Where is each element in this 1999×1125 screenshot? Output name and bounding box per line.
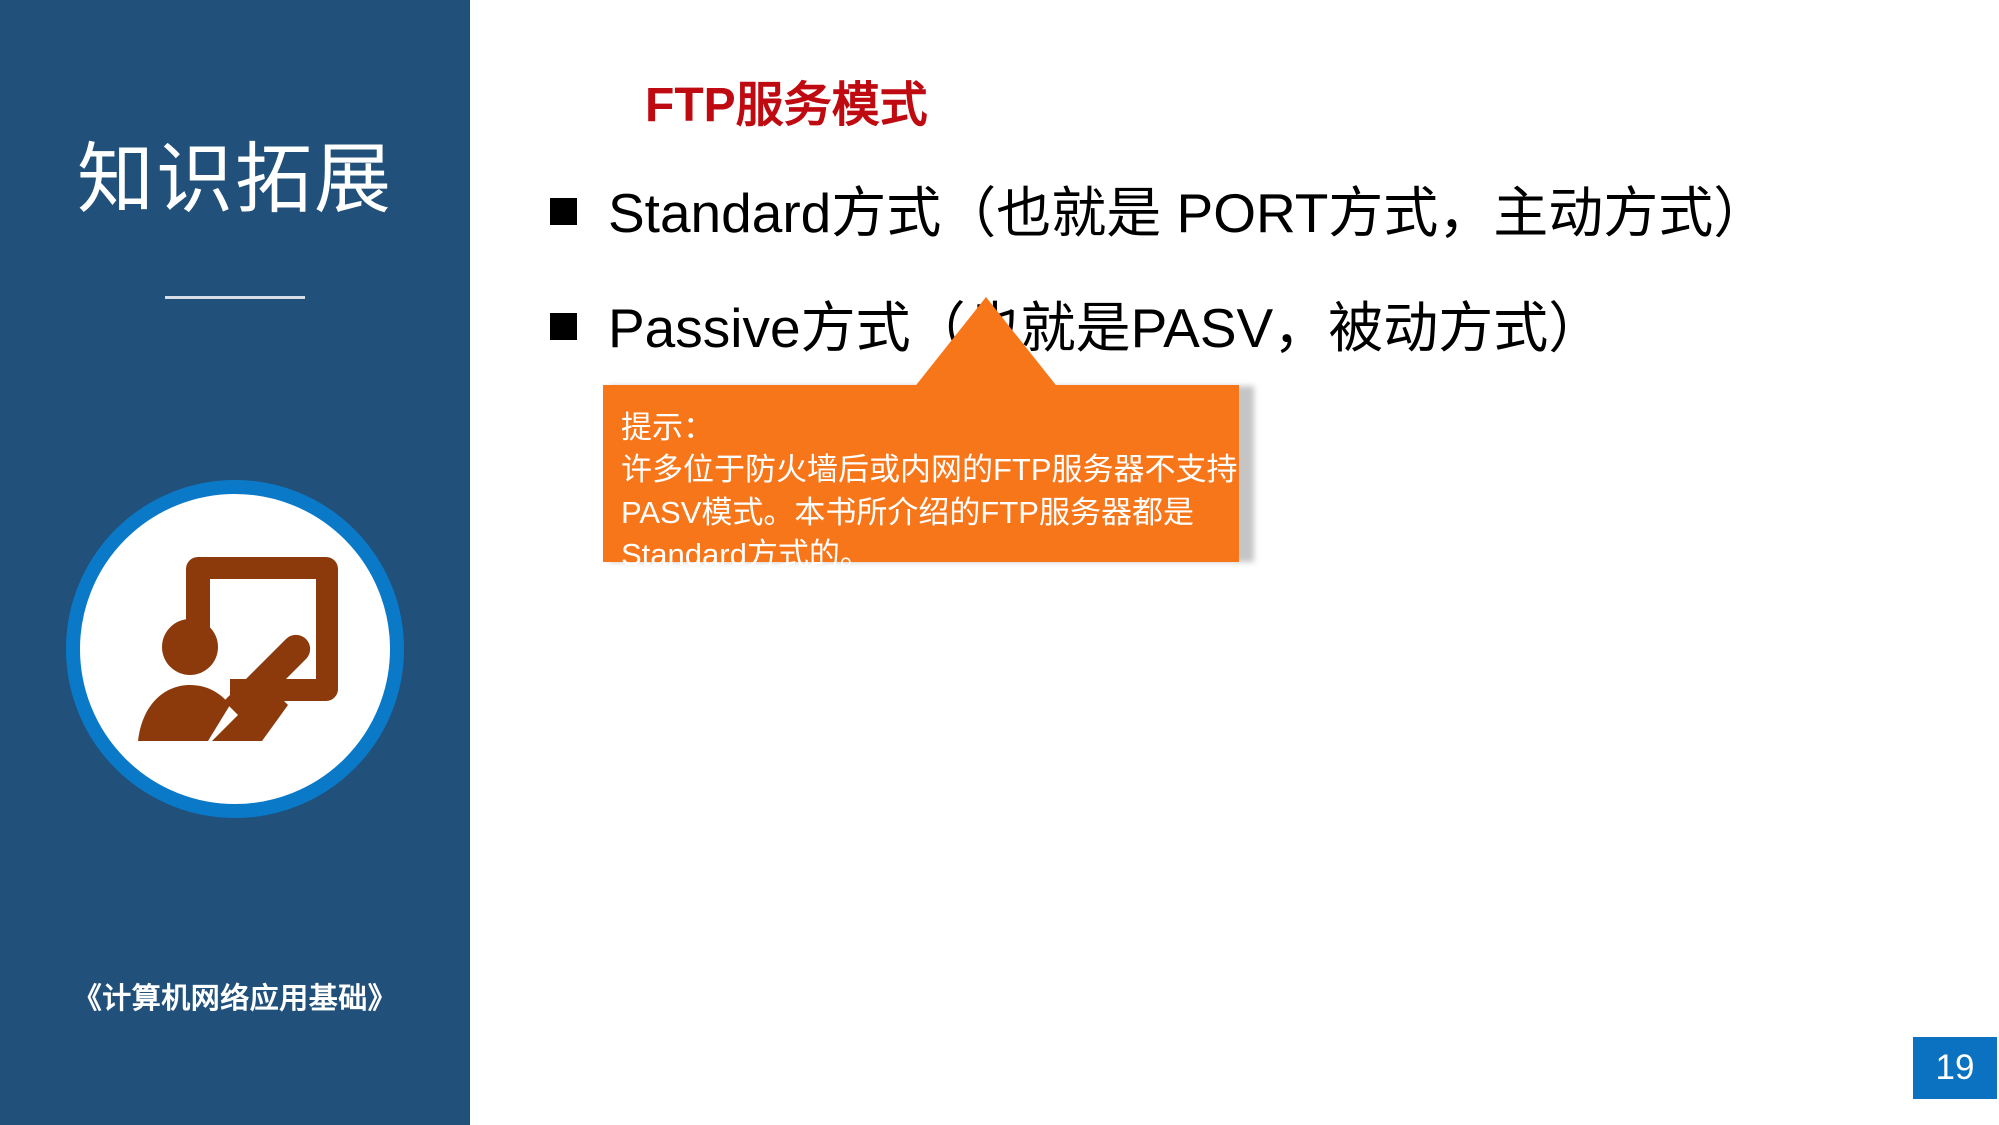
slide-canvas: 知识拓展 《计算机网络应用基础》 FTP服务模式 Standard方式（也就是 … [0,0,1999,1125]
bullet-label: Standard方式（也就是 PORT方式，主动方式） [608,168,1768,248]
square-bullet-icon [550,198,577,225]
square-bullet-icon [550,313,577,340]
teaching-presentation-icon [66,480,404,818]
book-title: 《计算机网络应用基础》 [0,975,470,1017]
page-number-badge: 19 [1913,1037,1997,1099]
callout-body: 提示： 许多位于防火墙后或内网的FTP服务器不支持 PASV模式。本书所介绍的F… [603,385,1239,562]
sidebar: 知识拓展 《计算机网络应用基础》 [0,0,470,1125]
sidebar-divider [165,296,305,299]
tip-callout: 提示： 许多位于防火墙后或内网的FTP服务器不支持 PASV模式。本书所介绍的F… [603,297,1248,562]
sidebar-title: 知识拓展 [0,140,470,221]
callout-text: 提示： 许多位于防火墙后或内网的FTP服务器不支持 PASV模式。本书所介绍的F… [621,407,1238,577]
callout-pointer-up-icon [913,297,1059,389]
page-title: FTP服务模式 [645,65,928,135]
bullet-item: Standard方式（也就是 PORT方式，主动方式） [550,168,1768,248]
main-content: FTP服务模式 Standard方式（也就是 PORT方式，主动方式） Pass… [470,0,1999,1125]
